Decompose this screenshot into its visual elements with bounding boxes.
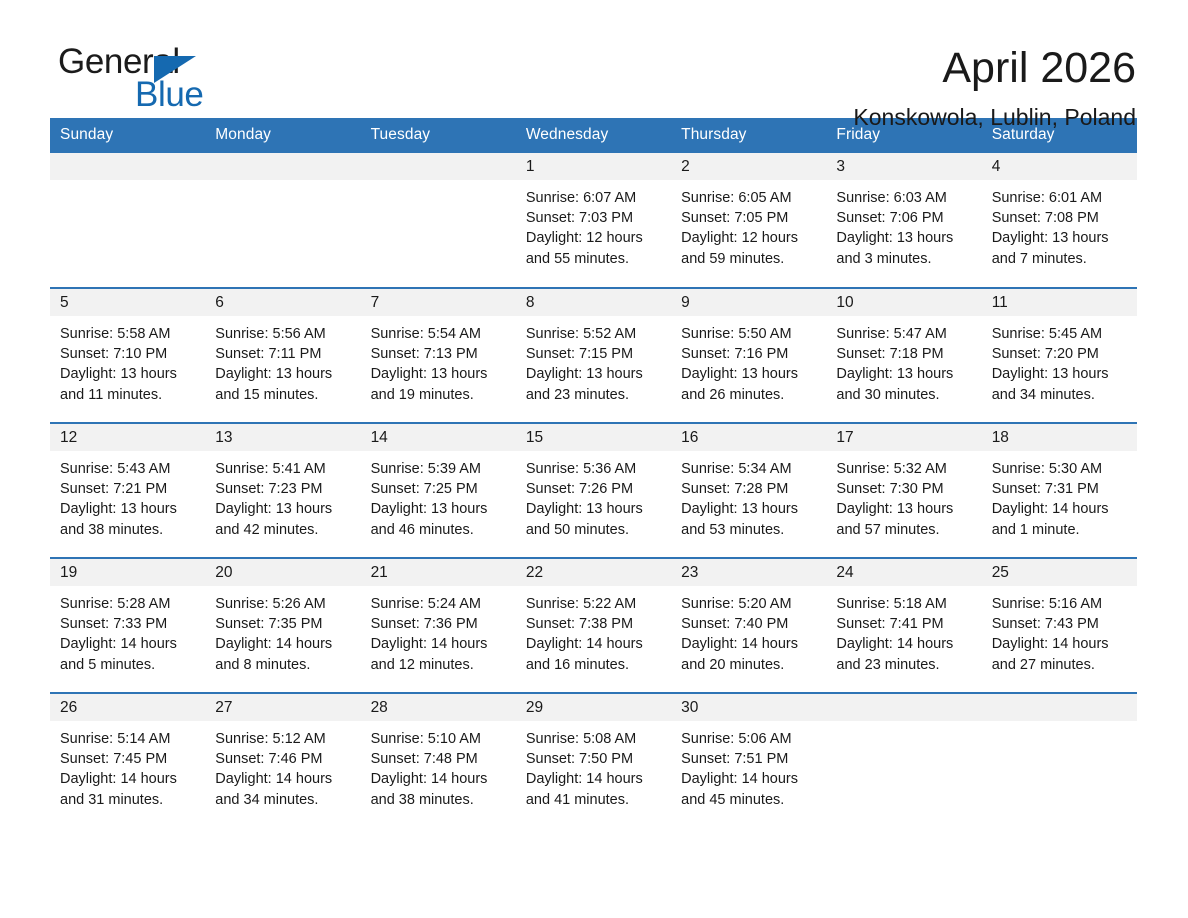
calendar-container: Sunday Monday Tuesday Wednesday Thursday… bbox=[0, 118, 1188, 828]
calendar-week-row: 5Sunrise: 5:58 AMSunset: 7:10 PMDaylight… bbox=[50, 288, 1137, 423]
sunset-text: Sunset: 7:45 PM bbox=[60, 749, 195, 769]
day-cell[interactable]: 29Sunrise: 5:08 AMSunset: 7:50 PMDayligh… bbox=[516, 693, 671, 828]
day-details: Sunrise: 5:16 AMSunset: 7:43 PMDaylight:… bbox=[982, 586, 1137, 675]
sunrise-text: Sunrise: 5:58 AM bbox=[60, 324, 195, 344]
sunrise-text: Sunrise: 5:12 AM bbox=[215, 729, 350, 749]
calendar-week-row: 12Sunrise: 5:43 AMSunset: 7:21 PMDayligh… bbox=[50, 423, 1137, 558]
day-cell-empty bbox=[361, 153, 516, 288]
sunset-text: Sunset: 7:16 PM bbox=[681, 344, 816, 364]
day-number bbox=[982, 694, 1137, 721]
daylight-text: Daylight: 14 hours and 8 minutes. bbox=[215, 634, 350, 674]
day-number: 28 bbox=[361, 694, 516, 721]
sunset-text: Sunset: 7:43 PM bbox=[992, 614, 1127, 634]
sunset-text: Sunset: 7:23 PM bbox=[215, 479, 350, 499]
day-number: 7 bbox=[361, 289, 516, 316]
sunrise-text: Sunrise: 5:22 AM bbox=[526, 594, 661, 614]
day-cell[interactable]: 8Sunrise: 5:52 AMSunset: 7:15 PMDaylight… bbox=[516, 288, 671, 423]
sunrise-text: Sunrise: 5:39 AM bbox=[371, 459, 506, 479]
day-cell[interactable]: 4Sunrise: 6:01 AMSunset: 7:08 PMDaylight… bbox=[982, 153, 1137, 288]
sunrise-text: Sunrise: 5:26 AM bbox=[215, 594, 350, 614]
day-details: Sunrise: 5:36 AMSunset: 7:26 PMDaylight:… bbox=[516, 451, 671, 540]
daylight-text: Daylight: 14 hours and 5 minutes. bbox=[60, 634, 195, 674]
day-cell[interactable]: 13Sunrise: 5:41 AMSunset: 7:23 PMDayligh… bbox=[205, 423, 360, 558]
weekday-header-monday: Monday bbox=[205, 118, 360, 153]
weekday-header-tuesday: Tuesday bbox=[361, 118, 516, 153]
day-number: 27 bbox=[205, 694, 360, 721]
day-number: 16 bbox=[671, 424, 826, 451]
day-number bbox=[50, 153, 205, 180]
sunrise-text: Sunrise: 5:43 AM bbox=[60, 459, 195, 479]
day-details: Sunrise: 5:54 AMSunset: 7:13 PMDaylight:… bbox=[361, 316, 516, 405]
day-cell[interactable]: 2Sunrise: 6:05 AMSunset: 7:05 PMDaylight… bbox=[671, 153, 826, 288]
day-cell[interactable]: 25Sunrise: 5:16 AMSunset: 7:43 PMDayligh… bbox=[982, 558, 1137, 693]
sunrise-text: Sunrise: 6:03 AM bbox=[836, 188, 971, 208]
day-number: 11 bbox=[982, 289, 1137, 316]
sunrise-text: Sunrise: 5:47 AM bbox=[836, 324, 971, 344]
page-title: April 2026 bbox=[853, 46, 1136, 91]
day-cell[interactable]: 5Sunrise: 5:58 AMSunset: 7:10 PMDaylight… bbox=[50, 288, 205, 423]
logo-text-blue: Blue bbox=[135, 77, 203, 112]
daylight-text: Daylight: 13 hours and 50 minutes. bbox=[526, 499, 661, 539]
sunrise-text: Sunrise: 5:45 AM bbox=[992, 324, 1127, 344]
day-number: 18 bbox=[982, 424, 1137, 451]
day-details: Sunrise: 5:45 AMSunset: 7:20 PMDaylight:… bbox=[982, 316, 1137, 405]
daylight-text: Daylight: 13 hours and 42 minutes. bbox=[215, 499, 350, 539]
day-cell[interactable]: 30Sunrise: 5:06 AMSunset: 7:51 PMDayligh… bbox=[671, 693, 826, 828]
sunrise-text: Sunrise: 5:41 AM bbox=[215, 459, 350, 479]
sunrise-text: Sunrise: 5:34 AM bbox=[681, 459, 816, 479]
sunset-text: Sunset: 7:11 PM bbox=[215, 344, 350, 364]
day-details: Sunrise: 5:18 AMSunset: 7:41 PMDaylight:… bbox=[826, 586, 981, 675]
day-cell[interactable]: 19Sunrise: 5:28 AMSunset: 7:33 PMDayligh… bbox=[50, 558, 205, 693]
page-header: General Blue April 2026 Konskowola, Lubl… bbox=[0, 0, 1188, 118]
daylight-text: Daylight: 14 hours and 38 minutes. bbox=[371, 769, 506, 809]
sunset-text: Sunset: 7:15 PM bbox=[526, 344, 661, 364]
sunset-text: Sunset: 7:28 PM bbox=[681, 479, 816, 499]
daylight-text: Daylight: 13 hours and 46 minutes. bbox=[371, 499, 506, 539]
day-details: Sunrise: 6:01 AMSunset: 7:08 PMDaylight:… bbox=[982, 180, 1137, 269]
sunset-text: Sunset: 7:20 PM bbox=[992, 344, 1127, 364]
day-cell[interactable]: 14Sunrise: 5:39 AMSunset: 7:25 PMDayligh… bbox=[361, 423, 516, 558]
sunrise-text: Sunrise: 5:10 AM bbox=[371, 729, 506, 749]
day-details: Sunrise: 5:20 AMSunset: 7:40 PMDaylight:… bbox=[671, 586, 826, 675]
day-number: 10 bbox=[826, 289, 981, 316]
sunset-text: Sunset: 7:13 PM bbox=[371, 344, 506, 364]
day-number: 20 bbox=[205, 559, 360, 586]
sunrise-text: Sunrise: 5:50 AM bbox=[681, 324, 816, 344]
daylight-text: Daylight: 14 hours and 27 minutes. bbox=[992, 634, 1127, 674]
sunset-text: Sunset: 7:33 PM bbox=[60, 614, 195, 634]
daylight-text: Daylight: 13 hours and 15 minutes. bbox=[215, 364, 350, 404]
sunrise-text: Sunrise: 5:32 AM bbox=[836, 459, 971, 479]
day-number: 9 bbox=[671, 289, 826, 316]
day-cell[interactable]: 20Sunrise: 5:26 AMSunset: 7:35 PMDayligh… bbox=[205, 558, 360, 693]
sunset-text: Sunset: 7:41 PM bbox=[836, 614, 971, 634]
day-cell[interactable]: 12Sunrise: 5:43 AMSunset: 7:21 PMDayligh… bbox=[50, 423, 205, 558]
sunrise-text: Sunrise: 5:30 AM bbox=[992, 459, 1127, 479]
day-number: 25 bbox=[982, 559, 1137, 586]
sunrise-text: Sunrise: 6:05 AM bbox=[681, 188, 816, 208]
sunrise-text: Sunrise: 5:52 AM bbox=[526, 324, 661, 344]
sunset-text: Sunset: 7:31 PM bbox=[992, 479, 1127, 499]
sunrise-text: Sunrise: 5:24 AM bbox=[371, 594, 506, 614]
day-number: 17 bbox=[826, 424, 981, 451]
day-cell[interactable]: 26Sunrise: 5:14 AMSunset: 7:45 PMDayligh… bbox=[50, 693, 205, 828]
sunset-text: Sunset: 7:26 PM bbox=[526, 479, 661, 499]
daylight-text: Daylight: 13 hours and 19 minutes. bbox=[371, 364, 506, 404]
day-details: Sunrise: 6:05 AMSunset: 7:05 PMDaylight:… bbox=[671, 180, 826, 269]
sunset-text: Sunset: 7:25 PM bbox=[371, 479, 506, 499]
daylight-text: Daylight: 13 hours and 34 minutes. bbox=[992, 364, 1127, 404]
calendar-week-row: 1Sunrise: 6:07 AMSunset: 7:03 PMDaylight… bbox=[50, 153, 1137, 288]
calendar-page: General Blue April 2026 Konskowola, Lubl… bbox=[0, 0, 1188, 918]
day-number: 6 bbox=[205, 289, 360, 316]
day-number: 4 bbox=[982, 153, 1137, 180]
day-cell[interactable]: 22Sunrise: 5:22 AMSunset: 7:38 PMDayligh… bbox=[516, 558, 671, 693]
day-details: Sunrise: 5:39 AMSunset: 7:25 PMDaylight:… bbox=[361, 451, 516, 540]
sunset-text: Sunset: 7:48 PM bbox=[371, 749, 506, 769]
day-cell[interactable]: 15Sunrise: 5:36 AMSunset: 7:26 PMDayligh… bbox=[516, 423, 671, 558]
sunrise-text: Sunrise: 5:36 AM bbox=[526, 459, 661, 479]
daylight-text: Daylight: 13 hours and 30 minutes. bbox=[836, 364, 971, 404]
day-cell[interactable]: 27Sunrise: 5:12 AMSunset: 7:46 PMDayligh… bbox=[205, 693, 360, 828]
sunset-text: Sunset: 7:03 PM bbox=[526, 208, 661, 228]
day-details: Sunrise: 5:34 AMSunset: 7:28 PMDaylight:… bbox=[671, 451, 826, 540]
daylight-text: Daylight: 14 hours and 16 minutes. bbox=[526, 634, 661, 674]
day-details: Sunrise: 5:47 AMSunset: 7:18 PMDaylight:… bbox=[826, 316, 981, 405]
day-cell[interactable]: 23Sunrise: 5:20 AMSunset: 7:40 PMDayligh… bbox=[671, 558, 826, 693]
day-details: Sunrise: 5:24 AMSunset: 7:36 PMDaylight:… bbox=[361, 586, 516, 675]
day-cell[interactable]: 9Sunrise: 5:50 AMSunset: 7:16 PMDaylight… bbox=[671, 288, 826, 423]
day-details: Sunrise: 5:26 AMSunset: 7:35 PMDaylight:… bbox=[205, 586, 360, 675]
sunrise-text: Sunrise: 5:18 AM bbox=[836, 594, 971, 614]
day-number: 22 bbox=[516, 559, 671, 586]
sunset-text: Sunset: 7:35 PM bbox=[215, 614, 350, 634]
title-block: April 2026 Konskowola, Lublin, Poland bbox=[853, 44, 1136, 131]
daylight-text: Daylight: 13 hours and 57 minutes. bbox=[836, 499, 971, 539]
day-cell-empty bbox=[826, 693, 981, 828]
day-number: 5 bbox=[50, 289, 205, 316]
sunset-text: Sunset: 7:50 PM bbox=[526, 749, 661, 769]
day-details: Sunrise: 5:50 AMSunset: 7:16 PMDaylight:… bbox=[671, 316, 826, 405]
daylight-text: Daylight: 13 hours and 11 minutes. bbox=[60, 364, 195, 404]
day-number: 19 bbox=[50, 559, 205, 586]
sunrise-text: Sunrise: 5:16 AM bbox=[992, 594, 1127, 614]
sunset-text: Sunset: 7:08 PM bbox=[992, 208, 1127, 228]
daylight-text: Daylight: 12 hours and 55 minutes. bbox=[526, 228, 661, 268]
daylight-text: Daylight: 14 hours and 1 minute. bbox=[992, 499, 1127, 539]
sunrise-text: Sunrise: 5:06 AM bbox=[681, 729, 816, 749]
day-number: 13 bbox=[205, 424, 360, 451]
day-number: 23 bbox=[671, 559, 826, 586]
day-cell[interactable]: 28Sunrise: 5:10 AMSunset: 7:48 PMDayligh… bbox=[361, 693, 516, 828]
sunrise-sunset-calendar: Sunday Monday Tuesday Wednesday Thursday… bbox=[50, 118, 1137, 828]
day-number: 2 bbox=[671, 153, 826, 180]
day-number bbox=[361, 153, 516, 180]
day-number bbox=[826, 694, 981, 721]
sunset-text: Sunset: 7:51 PM bbox=[681, 749, 816, 769]
generalblue-logo[interactable]: General Blue bbox=[58, 44, 298, 118]
daylight-text: Daylight: 13 hours and 38 minutes. bbox=[60, 499, 195, 539]
sunset-text: Sunset: 7:40 PM bbox=[681, 614, 816, 634]
daylight-text: Daylight: 13 hours and 7 minutes. bbox=[992, 228, 1127, 268]
day-details: Sunrise: 5:41 AMSunset: 7:23 PMDaylight:… bbox=[205, 451, 360, 540]
day-cell[interactable]: 21Sunrise: 5:24 AMSunset: 7:36 PMDayligh… bbox=[361, 558, 516, 693]
day-details: Sunrise: 6:07 AMSunset: 7:03 PMDaylight:… bbox=[516, 180, 671, 269]
day-cell[interactable]: 17Sunrise: 5:32 AMSunset: 7:30 PMDayligh… bbox=[826, 423, 981, 558]
sunset-text: Sunset: 7:36 PM bbox=[371, 614, 506, 634]
calendar-week-row: 26Sunrise: 5:14 AMSunset: 7:45 PMDayligh… bbox=[50, 693, 1137, 828]
day-number: 14 bbox=[361, 424, 516, 451]
sunset-text: Sunset: 7:18 PM bbox=[836, 344, 971, 364]
sunrise-text: Sunrise: 5:20 AM bbox=[681, 594, 816, 614]
sunrise-text: Sunrise: 5:14 AM bbox=[60, 729, 195, 749]
day-details: Sunrise: 5:28 AMSunset: 7:33 PMDaylight:… bbox=[50, 586, 205, 675]
day-number: 30 bbox=[671, 694, 826, 721]
sunrise-text: Sunrise: 5:56 AM bbox=[215, 324, 350, 344]
sunrise-text: Sunrise: 6:07 AM bbox=[526, 188, 661, 208]
daylight-text: Daylight: 14 hours and 20 minutes. bbox=[681, 634, 816, 674]
sunset-text: Sunset: 7:10 PM bbox=[60, 344, 195, 364]
daylight-text: Daylight: 14 hours and 45 minutes. bbox=[681, 769, 816, 809]
day-cell[interactable]: 10Sunrise: 5:47 AMSunset: 7:18 PMDayligh… bbox=[826, 288, 981, 423]
day-number: 3 bbox=[826, 153, 981, 180]
day-details: Sunrise: 5:12 AMSunset: 7:46 PMDaylight:… bbox=[205, 721, 360, 810]
day-details: Sunrise: 5:32 AMSunset: 7:30 PMDaylight:… bbox=[826, 451, 981, 540]
daylight-text: Daylight: 14 hours and 41 minutes. bbox=[526, 769, 661, 809]
day-details: Sunrise: 5:08 AMSunset: 7:50 PMDaylight:… bbox=[516, 721, 671, 810]
day-cell[interactable]: 11Sunrise: 5:45 AMSunset: 7:20 PMDayligh… bbox=[982, 288, 1137, 423]
day-number: 29 bbox=[516, 694, 671, 721]
daylight-text: Daylight: 14 hours and 23 minutes. bbox=[836, 634, 971, 674]
daylight-text: Daylight: 13 hours and 23 minutes. bbox=[526, 364, 661, 404]
day-details: Sunrise: 5:10 AMSunset: 7:48 PMDaylight:… bbox=[361, 721, 516, 810]
day-details: Sunrise: 5:58 AMSunset: 7:10 PMDaylight:… bbox=[50, 316, 205, 405]
day-cell[interactable]: 3Sunrise: 6:03 AMSunset: 7:06 PMDaylight… bbox=[826, 153, 981, 288]
day-number: 8 bbox=[516, 289, 671, 316]
daylight-text: Daylight: 12 hours and 59 minutes. bbox=[681, 228, 816, 268]
sunset-text: Sunset: 7:21 PM bbox=[60, 479, 195, 499]
day-number: 12 bbox=[50, 424, 205, 451]
day-cell[interactable]: 16Sunrise: 5:34 AMSunset: 7:28 PMDayligh… bbox=[671, 423, 826, 558]
day-cell-empty bbox=[982, 693, 1137, 828]
day-details: Sunrise: 5:56 AMSunset: 7:11 PMDaylight:… bbox=[205, 316, 360, 405]
sunrise-text: Sunrise: 5:54 AM bbox=[371, 324, 506, 344]
calendar-week-row: 19Sunrise: 5:28 AMSunset: 7:33 PMDayligh… bbox=[50, 558, 1137, 693]
daylight-text: Daylight: 14 hours and 31 minutes. bbox=[60, 769, 195, 809]
day-details: Sunrise: 5:52 AMSunset: 7:15 PMDaylight:… bbox=[516, 316, 671, 405]
day-number: 1 bbox=[516, 153, 671, 180]
daylight-text: Daylight: 13 hours and 3 minutes. bbox=[836, 228, 971, 268]
day-number: 24 bbox=[826, 559, 981, 586]
day-cell[interactable]: 24Sunrise: 5:18 AMSunset: 7:41 PMDayligh… bbox=[826, 558, 981, 693]
day-number bbox=[205, 153, 360, 180]
daylight-text: Daylight: 14 hours and 34 minutes. bbox=[215, 769, 350, 809]
weekday-header-sunday: Sunday bbox=[50, 118, 205, 153]
day-cell[interactable]: 6Sunrise: 5:56 AMSunset: 7:11 PMDaylight… bbox=[205, 288, 360, 423]
day-cell-empty bbox=[205, 153, 360, 288]
sunrise-text: Sunrise: 6:01 AM bbox=[992, 188, 1127, 208]
day-details: Sunrise: 5:22 AMSunset: 7:38 PMDaylight:… bbox=[516, 586, 671, 675]
day-number: 26 bbox=[50, 694, 205, 721]
daylight-text: Daylight: 13 hours and 53 minutes. bbox=[681, 499, 816, 539]
day-details: Sunrise: 5:43 AMSunset: 7:21 PMDaylight:… bbox=[50, 451, 205, 540]
day-details: Sunrise: 6:03 AMSunset: 7:06 PMDaylight:… bbox=[826, 180, 981, 269]
day-details: Sunrise: 5:30 AMSunset: 7:31 PMDaylight:… bbox=[982, 451, 1137, 540]
daylight-text: Daylight: 14 hours and 12 minutes. bbox=[371, 634, 506, 674]
weekday-header-thursday: Thursday bbox=[671, 118, 826, 153]
daylight-text: Daylight: 13 hours and 26 minutes. bbox=[681, 364, 816, 404]
day-cell[interactable]: 18Sunrise: 5:30 AMSunset: 7:31 PMDayligh… bbox=[982, 423, 1137, 558]
sunset-text: Sunset: 7:38 PM bbox=[526, 614, 661, 634]
day-number: 21 bbox=[361, 559, 516, 586]
sunset-text: Sunset: 7:46 PM bbox=[215, 749, 350, 769]
weekday-header-wednesday: Wednesday bbox=[516, 118, 671, 153]
day-cell-empty bbox=[50, 153, 205, 288]
sunset-text: Sunset: 7:05 PM bbox=[681, 208, 816, 228]
sunset-text: Sunset: 7:30 PM bbox=[836, 479, 971, 499]
day-cell[interactable]: 1Sunrise: 6:07 AMSunset: 7:03 PMDaylight… bbox=[516, 153, 671, 288]
day-number: 15 bbox=[516, 424, 671, 451]
day-cell[interactable]: 7Sunrise: 5:54 AMSunset: 7:13 PMDaylight… bbox=[361, 288, 516, 423]
day-details: Sunrise: 5:06 AMSunset: 7:51 PMDaylight:… bbox=[671, 721, 826, 810]
calendar-body: 1Sunrise: 6:07 AMSunset: 7:03 PMDaylight… bbox=[50, 153, 1137, 828]
day-details: Sunrise: 5:14 AMSunset: 7:45 PMDaylight:… bbox=[50, 721, 205, 810]
sunrise-text: Sunrise: 5:08 AM bbox=[526, 729, 661, 749]
sunrise-text: Sunrise: 5:28 AM bbox=[60, 594, 195, 614]
sunset-text: Sunset: 7:06 PM bbox=[836, 208, 971, 228]
